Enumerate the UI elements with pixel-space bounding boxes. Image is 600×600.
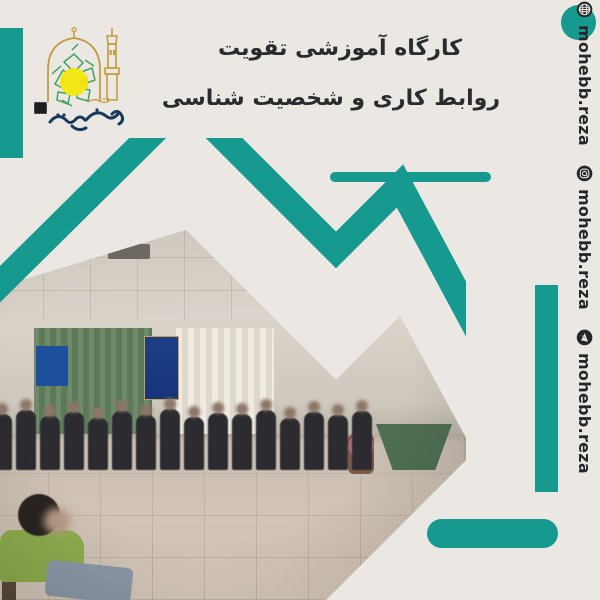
organization-logo	[28, 22, 140, 134]
instagram-handle: mohebb.reza	[575, 189, 594, 310]
social-sidebar: mohebb.reza mohebb.reza m	[556, 78, 598, 548]
telegram-handle: mohebb.reza	[575, 353, 594, 474]
social-link-website[interactable]: mohebb.reza	[575, 1, 594, 146]
globe-icon	[576, 1, 593, 18]
social-link-instagram[interactable]: mohebb.reza	[575, 165, 594, 310]
poster-title: کارگاه آموزشی تقویت روابط کاری و شخصیت ش…	[180, 24, 500, 124]
accent-bar-right	[535, 285, 558, 492]
photo-ceiling-cable	[101, 196, 133, 250]
social-link-telegram[interactable]: mohebb.reza	[575, 329, 594, 474]
event-photo-clip	[0, 138, 466, 600]
event-photo-image	[0, 138, 466, 600]
title-line-1: کارگاه آموزشی تقویت	[180, 24, 500, 74]
event-photo	[0, 138, 466, 600]
instagram-icon	[576, 165, 593, 182]
photo-projector-pole	[124, 196, 128, 248]
website-handle: mohebb.reza	[575, 25, 594, 146]
photo-vignette	[0, 138, 466, 600]
poster-canvas: کارگاه آموزشی تقویت روابط کاری و شخصیت ش…	[0, 0, 600, 600]
title-line-2: روابط کاری و شخصیت شناسی	[180, 74, 500, 124]
telegram-icon	[576, 329, 593, 346]
